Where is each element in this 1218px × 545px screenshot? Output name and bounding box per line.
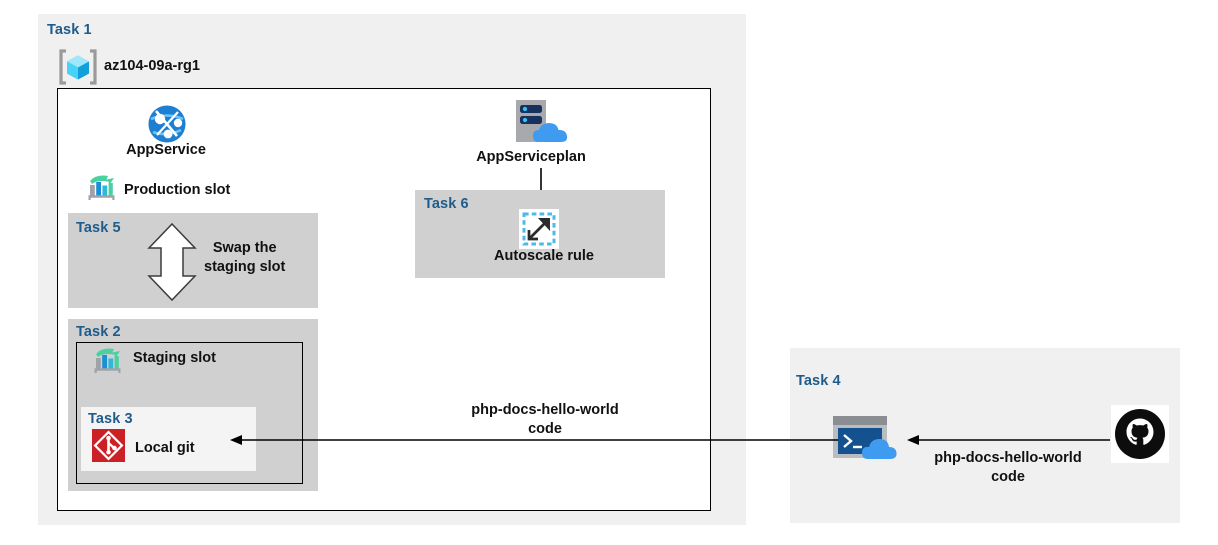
deployment-slot-icon-staging xyxy=(92,346,124,376)
appservice-icon xyxy=(147,104,187,144)
task5-label: Task 5 xyxy=(76,220,121,236)
task5-action-label: Swap the staging slot xyxy=(204,239,285,276)
autoscale-rule-icon xyxy=(519,209,559,249)
task4-transfer-label: php-docs-hello-world code xyxy=(934,449,1081,486)
task1-label: Task 1 xyxy=(47,22,92,38)
app-service-plan-icon xyxy=(511,98,573,146)
deployment-slot-icon-production xyxy=(86,173,118,203)
git-icon xyxy=(92,429,125,462)
cloudshell-to-localgit-arrow xyxy=(228,430,838,450)
resource-group-name: az104-09a-rg1 xyxy=(104,58,200,74)
resource-group-icon xyxy=(59,49,97,85)
github-to-cloudshell-arrow xyxy=(905,430,1110,450)
diagram-canvas: Task 1 az104-09a-rg1 AppService xyxy=(0,0,1218,545)
appserviceplan-name: AppServiceplan xyxy=(476,149,586,165)
staging-slot-name: Staging slot xyxy=(133,350,216,366)
swap-double-arrow-icon xyxy=(146,222,198,302)
local-git-name: Local git xyxy=(135,440,195,456)
task4-label: Task 4 xyxy=(796,373,841,389)
appservice-name: AppService xyxy=(126,142,206,158)
cloud-shell-icon xyxy=(832,415,900,461)
task3-label: Task 3 xyxy=(88,411,133,427)
task6-label: Task 6 xyxy=(424,196,469,212)
autoscale-rule-name: Autoscale rule xyxy=(494,248,594,264)
task2-label: Task 2 xyxy=(76,324,121,340)
github-icon xyxy=(1111,405,1169,463)
production-slot-name: Production slot xyxy=(124,182,230,198)
